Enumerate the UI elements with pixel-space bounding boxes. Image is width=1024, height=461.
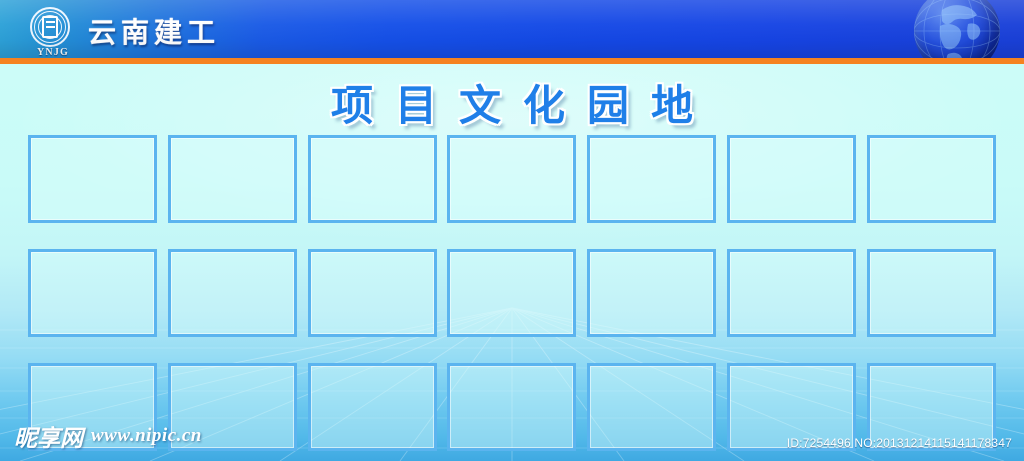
content-cell[interactable]: [727, 135, 856, 223]
watermark: 昵享网 www.nipic.cn: [14, 419, 202, 453]
watermark-id: ID:7254496 NO:20131214115141178347: [787, 436, 1012, 450]
watermark-site-name: 昵享网: [14, 419, 83, 453]
header-bar: YNJG 云南建工: [0, 0, 1024, 58]
content-grid: [0, 135, 1024, 455]
logo-glyph: [42, 16, 58, 38]
grid-row: [0, 135, 1024, 223]
globe-icon: [914, 0, 1000, 58]
content-cell[interactable]: [308, 249, 437, 337]
content-cell[interactable]: [587, 249, 716, 337]
poster-canvas: YNJG 云南建工: [0, 0, 1024, 461]
content-cell[interactable]: [308, 363, 437, 451]
content-cell[interactable]: [587, 363, 716, 451]
logo-text: YNJG: [28, 47, 78, 58]
content-cell[interactable]: [28, 135, 157, 223]
content-cell[interactable]: [447, 249, 576, 337]
content-cell[interactable]: [28, 249, 157, 337]
grid-row: [0, 249, 1024, 337]
content-cell[interactable]: [308, 135, 437, 223]
content-cell[interactable]: [447, 135, 576, 223]
content-cell[interactable]: [867, 135, 996, 223]
content-cell[interactable]: [867, 249, 996, 337]
content-cell[interactable]: [168, 249, 297, 337]
content-cell[interactable]: [447, 363, 576, 451]
content-cell[interactable]: [587, 135, 716, 223]
company-name: 云南建工: [88, 11, 220, 51]
watermark-url: www.nipic.cn: [91, 425, 202, 447]
content-cell[interactable]: [168, 135, 297, 223]
content-cell[interactable]: [727, 249, 856, 337]
page-title: 项目文化园地: [0, 72, 1024, 133]
ynjg-circular-emblem-icon: YNJG: [30, 7, 76, 53]
